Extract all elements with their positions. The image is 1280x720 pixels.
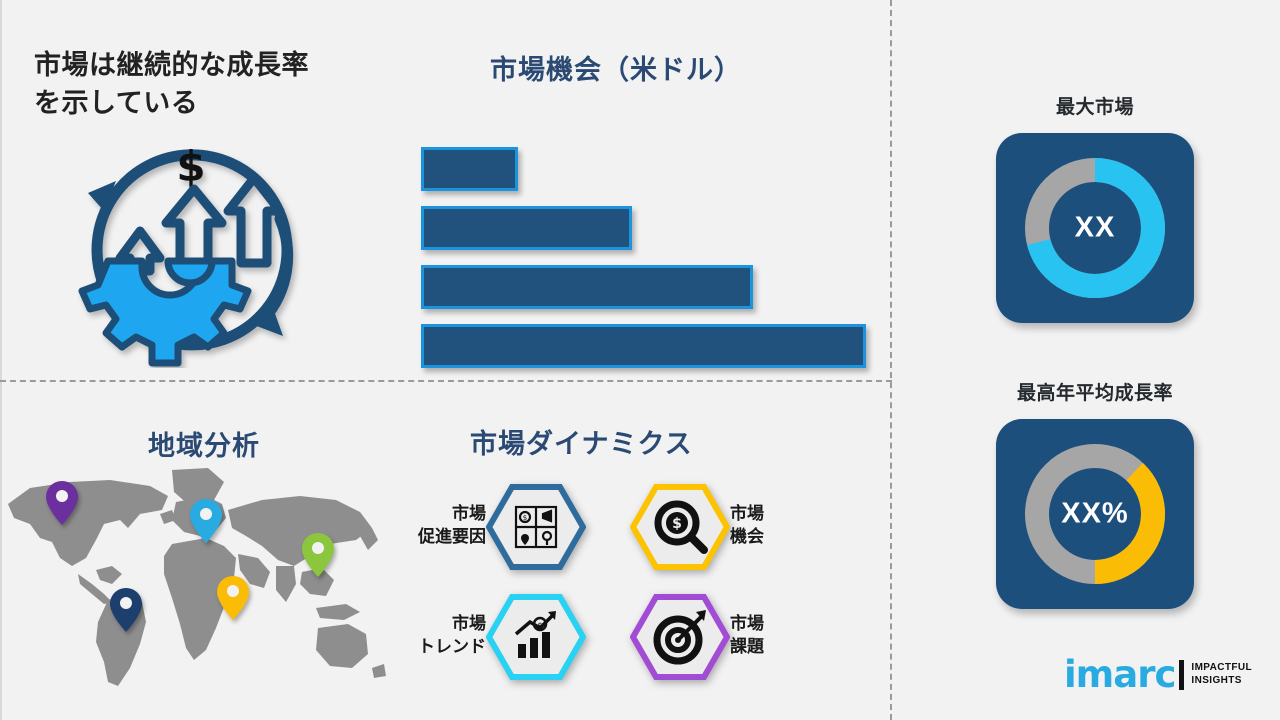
svg-text:$: $ <box>176 142 205 191</box>
market-dynamics-grid: 市場 促進要因 $ <box>400 482 850 680</box>
hexagon-trends: $ <box>486 594 586 678</box>
svg-text:$: $ <box>672 516 682 532</box>
market-dynamics-title: 市場ダイナミクス <box>470 422 693 461</box>
highest-cagr-kpi: 最高年平均成長率 XX% <box>960 378 1230 609</box>
hexagon-drivers: $ <box>486 484 586 568</box>
bar-1 <box>421 147 518 191</box>
bar-row <box>421 147 891 191</box>
svg-text:$: $ <box>537 621 542 630</box>
growth-cycle-gear-icon: $ <box>68 123 318 368</box>
pin-asia-pacific <box>300 532 336 583</box>
highest-cagr-card: XX% <box>996 419 1194 609</box>
largest-market-kpi: 最大市場 XX <box>960 92 1230 323</box>
pin-north-america <box>44 480 80 531</box>
highest-cagr-label: 最高年平均成長率 <box>960 378 1230 405</box>
bar-2 <box>421 206 632 250</box>
logo-wordmark: imarc <box>1064 658 1175 691</box>
world-map <box>0 462 400 697</box>
dynamics-label-drivers: 市場 促進要因 <box>400 503 486 549</box>
largest-market-value: XX <box>996 212 1194 245</box>
logo-divider <box>1179 660 1184 690</box>
bar-row <box>421 206 891 250</box>
regional-analysis-title: 地域分析 <box>148 424 260 463</box>
largest-market-card: XX <box>996 133 1194 323</box>
pin-europe <box>188 498 224 549</box>
dynamics-item-challenges[interactable]: 市場 課題 <box>630 592 850 680</box>
logo-tagline: IMPACTFUL INSIGHTS <box>1191 662 1252 687</box>
largest-market-label: 最大市場 <box>960 92 1230 119</box>
growth-section: 市場は継続的な成長率 を示している <box>34 46 384 123</box>
dynamics-label-trends: 市場 トレンド <box>400 613 486 659</box>
bar-row <box>421 265 891 309</box>
market-opportunity-bar-chart <box>421 147 891 383</box>
dynamics-label-opportunities: 市場 機会 <box>730 503 816 549</box>
dynamics-item-drivers[interactable]: 市場 促進要因 $ <box>400 482 620 570</box>
growth-title: 市場は継続的な成長率 を示している <box>34 46 384 123</box>
hexagon-challenges <box>630 594 730 678</box>
bar-row <box>421 324 891 368</box>
svg-text:$: $ <box>523 514 527 522</box>
pin-middle-east-africa <box>215 575 251 626</box>
slide-canvas: 市場は継続的な成長率 を示している $ 市場機会（米 <box>0 0 1280 720</box>
bar-3 <box>421 265 753 309</box>
bar-4 <box>421 324 866 368</box>
market-opportunity-title: 市場機会（米ドル） <box>406 48 826 87</box>
highest-cagr-value: XX% <box>996 498 1194 531</box>
imarc-logo: imarc IMPACTFUL INSIGHTS <box>1064 658 1252 691</box>
hexagon-opportunities: $ <box>630 484 730 568</box>
pin-latin-america <box>108 587 144 638</box>
dynamics-item-opportunities[interactable]: $ 市場 機会 <box>630 482 850 570</box>
dynamics-item-trends[interactable]: 市場 トレンド $ <box>400 592 620 680</box>
dynamics-label-challenges: 市場 課題 <box>730 613 816 659</box>
